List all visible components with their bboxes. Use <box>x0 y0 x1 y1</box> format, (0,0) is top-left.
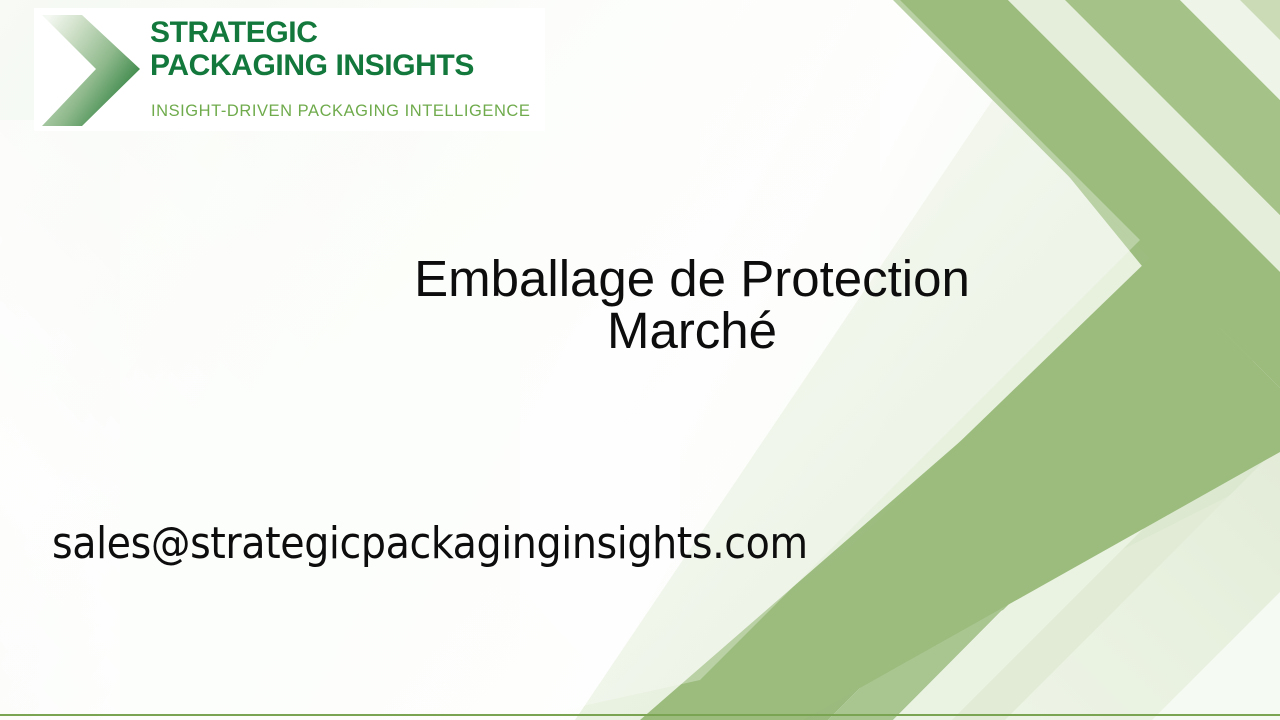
company-logo: STRATEGIC PACKAGING INSIGHTS INSIGHT-DRI… <box>34 8 545 131</box>
contact-email: sales@strategicpackaginginsights.com <box>52 514 808 574</box>
slide-title: Emballage de Protection Marché <box>237 253 1147 357</box>
bottom-divider <box>0 714 1280 716</box>
logo-tagline: INSIGHT-DRIVEN PACKAGING INTELLIGENCE <box>151 102 530 121</box>
presentation-slide: STRATEGIC PACKAGING INSIGHTS INSIGHT-DRI… <box>0 0 1280 720</box>
chevron-mark-icon <box>38 13 144 128</box>
logo-name-line-1: STRATEGIC <box>150 16 545 49</box>
logo-wordmark: STRATEGIC PACKAGING INSIGHTS <box>150 16 545 82</box>
logo-name-line-2: PACKAGING INSIGHTS <box>150 49 545 82</box>
